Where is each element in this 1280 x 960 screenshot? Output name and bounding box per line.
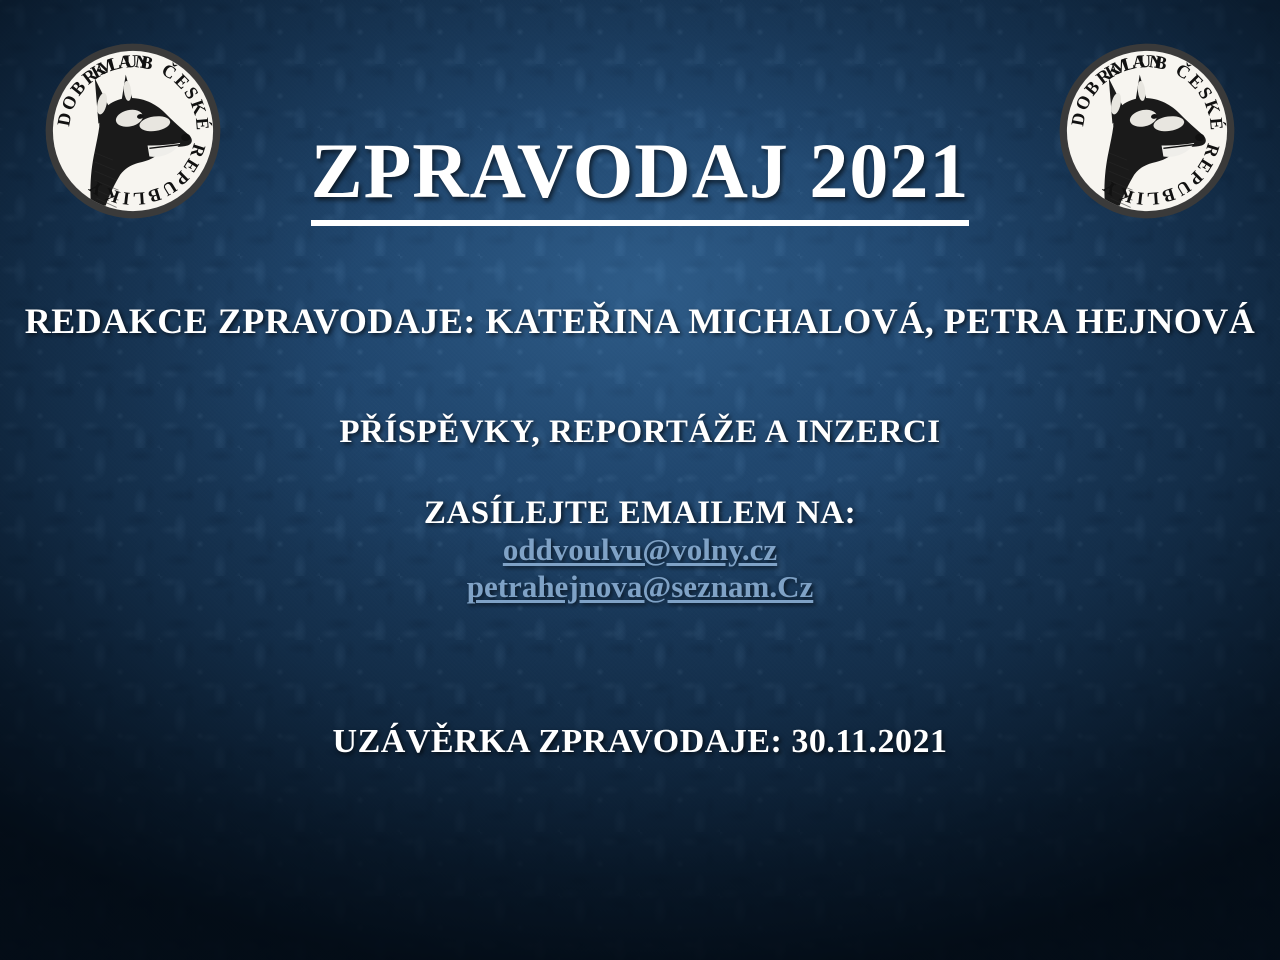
slide-title-container: ZPRAVODAJ 2021	[0, 132, 1280, 226]
send-email-label: ZASÍLEJTE EMAILEM NA:	[0, 495, 1280, 532]
slide-body: REDAKCE ZPRAVODAJE: KATEŘINA MICHALOVÁ, …	[0, 300, 1280, 761]
editors-line: REDAKCE ZPRAVODAJE: KATEŘINA MICHALOVÁ, …	[0, 300, 1280, 342]
email-link-oddvoulvu[interactable]: oddvoulvu@volny.cz	[0, 532, 1280, 569]
spacer-two	[0, 451, 1280, 495]
deadline-line: UZÁVĚRKA ZPRAVODAJE: 30.11.2021	[0, 723, 1280, 761]
spacer-one	[0, 342, 1280, 414]
presentation-slide: KLUB ČESKÉ REPUBLIKY DOBRMAN	[0, 0, 1280, 960]
slide-title: ZPRAVODAJ 2021	[311, 132, 970, 226]
contributions-line: PŘÍSPĚVKY, REPORTÁŽE A INZERCI	[0, 414, 1280, 451]
spacer-three	[0, 605, 1280, 723]
email-link-petrahejnova[interactable]: petrahejnova@seznam.Cz	[0, 569, 1280, 606]
